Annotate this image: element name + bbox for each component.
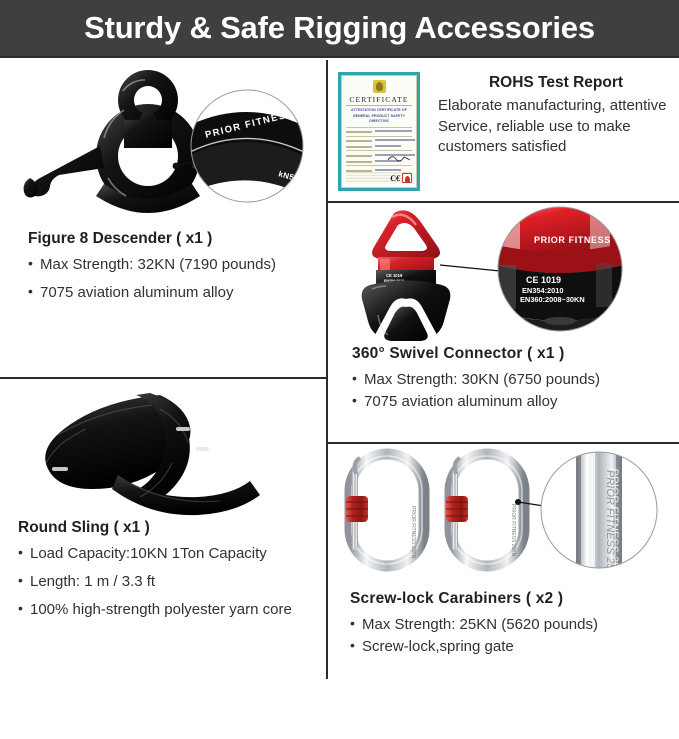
round-sling-spec-list: Load Capacity:10KN 1Ton Capacity Length:… — [18, 544, 326, 620]
swivel-product-image: CE 1019 EN354:2010 — [328, 203, 679, 341]
figure8-text-block: Figure 8 Descender ( x1 ) Max Strength: … — [28, 230, 320, 311]
certificate-subheading-line2: GENERAL PRODUCT SAFETY DIRECTIVE — [346, 114, 412, 124]
round-sling-product-image — [0, 379, 326, 515]
carabiners-icon: PRIOR FITNESS 25KN PRIOR FITNESS 25KN — [328, 444, 679, 584]
certificate-image: CERTIFICATE ATTESTATION CERTIFICATE OF G… — [338, 72, 420, 191]
figure8-body-brand-text: PRIOR FITNESS — [86, 208, 125, 219]
page-title: Sturdy & Safe Rigging Accessories — [84, 10, 595, 46]
certificate-signature-icon — [387, 153, 411, 162]
carabiner-2-engraving: PRIOR FITNESS 25KN — [510, 504, 516, 557]
swivel-body-mark-1: CE 1019 — [386, 273, 403, 278]
ce-mark-icon: C€ — [390, 174, 400, 183]
figure8-descender-icon: kN50 PRIOR FITNESS PRIOR FITNESS kN50 — [0, 60, 326, 226]
figure8-magnifier-callout: PRIOR FITNESS kN50 — [173, 90, 312, 202]
swivel-callout-brand-text: PRIOR FITNESS — [534, 235, 611, 245]
page-header: Sturdy & Safe Rigging Accessories — [0, 0, 679, 58]
rohs-body: Elaborate manufacturing, attentive Servi… — [438, 96, 674, 158]
carabiner-2: PRIOR FITNESS 25KN — [446, 454, 524, 566]
carabiners-spec-0: Max Strength: 25KN (5620 pounds) — [350, 615, 677, 635]
round-sling-spec-1: Length: 1 m / 3.3 ft — [18, 572, 326, 592]
figure8-spec-0: Max Strength: 32KN (7190 pounds) — [28, 255, 320, 275]
swivel-magnifier-callout: PRIOR FITNESS CE 1019 EN354:2010 EN360:2… — [440, 203, 624, 335]
round-sling-title: Round Sling ( x1 ) — [18, 519, 326, 537]
certificate-compliance-marks: C€ — [390, 173, 412, 183]
round-sling-spec-0: Load Capacity:10KN 1Ton Capacity — [18, 544, 326, 564]
swivel-callout-mark-3: EN360:2008~30KN — [520, 295, 585, 304]
swivel-callout-mark-1: CE 1019 — [526, 275, 561, 285]
certificate-seal-icon — [373, 80, 386, 93]
swivel-title: 360° Swivel Connector ( x1 ) — [352, 345, 677, 363]
carabiners-title: Screw-lock Carabiners ( x2 ) — [350, 590, 677, 608]
panel-swivel-connector: CE 1019 EN354:2010 — [328, 203, 679, 442]
carabiners-spec-list: Max Strength: 25KN (5620 pounds) Screw-l… — [350, 615, 677, 657]
certificate-document: CERTIFICATE ATTESTATION CERTIFICATE OF G… — [341, 75, 417, 188]
carabiners-product-image: PRIOR FITNESS 25KN PRIOR FITNESS 25KN — [328, 444, 679, 584]
swivel-spec-list: Max Strength: 30KN (6750 pounds) 7075 av… — [352, 370, 677, 412]
rohs-mark-icon — [402, 173, 412, 183]
figure8-spec-1: 7075 aviation aluminum alloy — [28, 283, 320, 303]
figure8-body-rating-text: kN50 — [56, 186, 70, 193]
rohs-title: ROHS Test Report — [438, 74, 674, 92]
round-sling-icon — [0, 379, 326, 515]
round-sling-text-block: Round Sling ( x1 ) Load Capacity:10KN 1T… — [18, 519, 326, 628]
swivel-spec-1: 7075 aviation aluminum alloy — [352, 392, 677, 412]
panel-figure8-descender: kN50 PRIOR FITNESS PRIOR FITNESS kN50 — [0, 60, 326, 377]
carabiners-magnifier-callout: PRIOR FITNESS 25KN PRIOR FITNESS 25KN — [515, 444, 657, 585]
round-sling-spec-2: 100% high-strength polyester yarn core — [18, 600, 326, 620]
certificate-heading: CERTIFICATE — [346, 95, 412, 106]
carabiners-text-block: Screw-lock Carabiners ( x2 ) Max Strengt… — [350, 590, 677, 659]
figure8-spec-list: Max Strength: 32KN (7190 pounds) 7075 av… — [28, 255, 320, 303]
panel-rohs-test-report: CERTIFICATE ATTESTATION CERTIFICATE OF G… — [328, 60, 679, 201]
swivel-callout-mark-2: EN354:2010 — [522, 286, 564, 295]
carabiner-1-engraving: PRIOR FITNESS 25KN — [410, 506, 416, 559]
panel-round-sling: Round Sling ( x1 ) Load Capacity:10KN 1T… — [0, 379, 326, 679]
swivel-connector-icon: CE 1019 EN354:2010 — [328, 203, 679, 341]
rohs-text-block: ROHS Test Report Elaborate manufacturing… — [438, 74, 674, 158]
carabiners-spec-1: Screw-lock,spring gate — [350, 637, 677, 657]
content-grid: kN50 PRIOR FITNESS PRIOR FITNESS kN50 — [0, 60, 679, 679]
figure8-title: Figure 8 Descender ( x1 ) — [28, 230, 320, 248]
panel-screwlock-carabiners: PRIOR FITNESS 25KN PRIOR FITNESS 25KN — [328, 444, 679, 739]
carabiner-1: PRIOR FITNESS 25KN — [346, 454, 424, 566]
certificate-rule — [346, 127, 412, 128]
figure8-product-image: kN50 PRIOR FITNESS PRIOR FITNESS kN50 — [0, 60, 326, 226]
swivel-spec-0: Max Strength: 30KN (6750 pounds) — [352, 370, 677, 390]
swivel-text-block: 360° Swivel Connector ( x1 ) Max Strengt… — [352, 345, 677, 414]
certificate-subheading-line1: ATTESTATION CERTIFICATE OF — [346, 108, 412, 113]
